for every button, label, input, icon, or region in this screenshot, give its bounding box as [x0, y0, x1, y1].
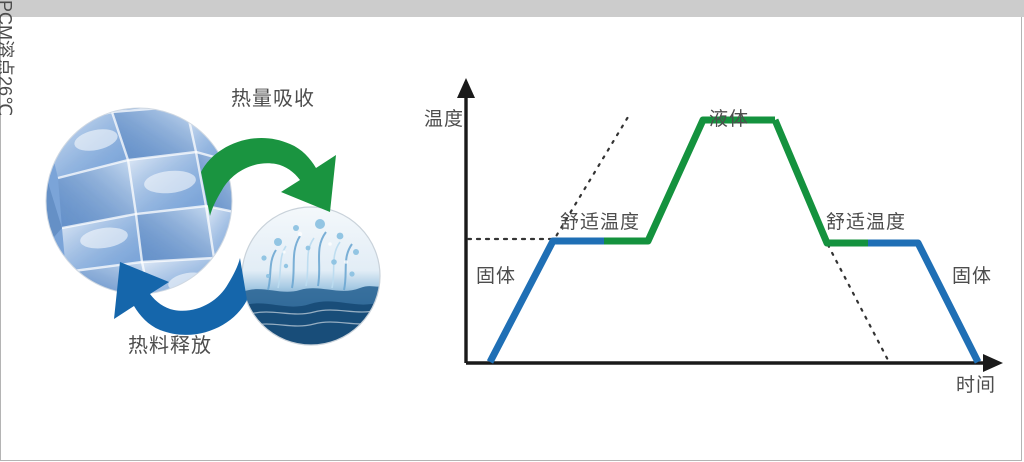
phase-label-solid-right: 固体	[952, 267, 992, 286]
water-photo-circle	[242, 207, 380, 345]
phase-label-comfort-fall: 舒适温度	[826, 213, 906, 232]
y-axis-label: 温度	[424, 110, 464, 129]
phase-label-liquid: 液体	[709, 110, 749, 129]
heat-absorb-label: 热量吸收	[231, 89, 315, 109]
diagram-stage: 热量吸收 热料释放 温度 时间 PCM溶点26℃ 固体 舒适温度 液体 舒适温度…	[0, 0, 1024, 462]
heat-release-label: 热料释放	[128, 336, 212, 356]
ice-cubes-texture	[46, 106, 248, 300]
no-pcm-fall-dotted-line	[828, 245, 889, 362]
ice-photo-circle	[46, 106, 248, 300]
y-axis-threshold-label-text: PCM溶点26℃	[0, 0, 19, 116]
water-splash-texture	[242, 207, 380, 345]
series-solid-phase-heating	[490, 241, 606, 362]
series-solid-phase-cooling	[868, 243, 978, 362]
phase-label-comfort-rise: 舒适温度	[560, 213, 640, 232]
x-axis-label: 时间	[956, 376, 996, 395]
page-root: 热量吸收 热料释放 温度 时间 PCM溶点26℃ 固体 舒适温度 液体 舒适温度…	[0, 0, 1024, 462]
phase-label-solid-left: 固体	[476, 267, 516, 286]
